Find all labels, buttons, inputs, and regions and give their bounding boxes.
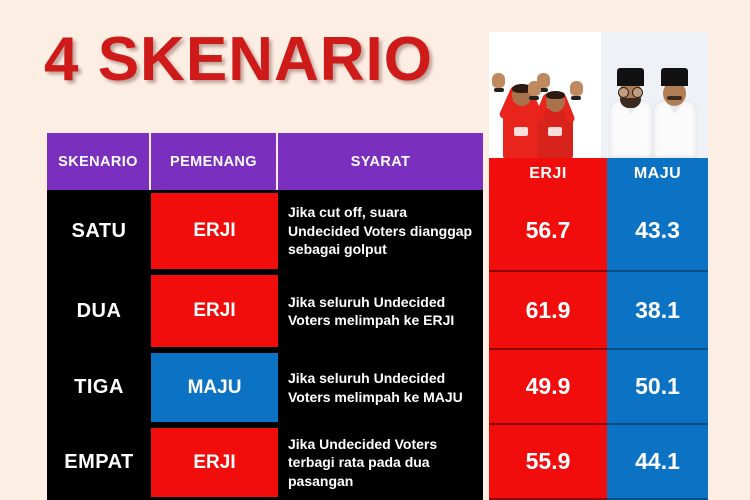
cell-syarat: Jika seluruh Undecided Voters melimpah k… [278,272,483,350]
value-maju: 44.1 [607,425,708,500]
cell-syarat: Jika Undecided Voters terbagi rata pada … [278,425,483,500]
table-header-row: SKENARIO PEMENANG SYARAT [47,133,483,190]
column-header-syarat: SYARAT [278,133,483,190]
cell-skenario: EMPAT [47,425,151,500]
shirt-logo-shape [548,127,562,136]
glasses-icon [618,87,643,96]
candidate-banner: ERJI MAJU [489,158,708,190]
wristband-right-shape [571,96,581,100]
infographic-root: 4 SKENARIO [0,0,750,500]
table-row: EMPAT ERJI Jika Undecided Voters terbagi… [47,425,483,500]
hair-shape [546,91,565,99]
result-values: 56.7 43.3 61.9 38.1 49.9 50.1 55.9 44.1 [489,190,708,500]
cell-pemenang: ERJI [151,428,278,497]
value-erji: 56.7 [489,190,607,272]
table-row: DUA ERJI Jika seluruh Undecided Voters m… [47,272,483,350]
hand-right-shape [570,81,583,96]
value-erji: 49.9 [489,350,607,425]
wristband-left-shape [529,96,539,100]
value-row: 56.7 43.3 [489,190,708,272]
cell-pemenang: MAJU [151,353,278,422]
page-title: 4 SKENARIO [44,24,433,95]
value-row: 49.9 50.1 [489,350,708,425]
scenario-table: SKENARIO PEMENANG SYARAT SATU ERJI Jika … [47,133,483,500]
wristband-left-shape [494,88,504,92]
hand-left-shape [528,81,541,96]
value-row: 55.9 44.1 [489,425,708,500]
cell-pemenang: ERJI [151,193,278,269]
value-erji: 55.9 [489,425,607,500]
column-header-skenario: SKENARIO [47,133,151,190]
banner-label-erji: ERJI [489,158,607,190]
value-maju: 38.1 [607,272,708,350]
hand-left-shape [492,73,505,88]
cell-syarat: Jika cut off, suara Undecided Voters dia… [278,190,483,272]
shirt-logo-shape [514,127,528,136]
peci-cap-shape [617,68,644,86]
cell-skenario: SATU [47,190,151,272]
value-row: 61.9 38.1 [489,272,708,350]
banner-label-maju: MAJU [607,158,708,190]
column-header-pemenang: PEMENANG [151,133,278,190]
value-maju: 43.3 [607,190,708,272]
table-row: TIGA MAJU Jika seluruh Undecided Voters … [47,350,483,425]
mustache-shape [667,96,682,100]
cell-skenario: DUA [47,272,151,350]
cell-skenario: TIGA [47,350,151,425]
value-erji: 61.9 [489,272,607,350]
table-row: SATU ERJI Jika cut off, suara Undecided … [47,190,483,272]
candidate-pair-erji-photo [489,32,601,158]
cell-syarat: Jika seluruh Undecided Voters melimpah k… [278,350,483,425]
candidate-photos [489,32,708,158]
peci-cap-shape [661,68,688,86]
value-maju: 50.1 [607,350,708,425]
cell-pemenang: ERJI [151,275,278,347]
candidate-pair-maju-photo [601,32,708,158]
